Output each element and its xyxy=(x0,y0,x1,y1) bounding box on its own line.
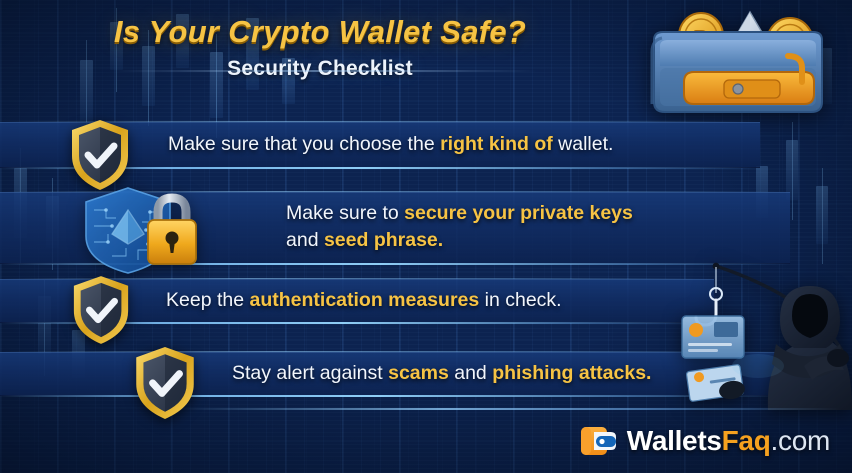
row1-text-part1: Make sure that you choose the xyxy=(168,133,440,155)
row3-text-part2: in check. xyxy=(479,289,561,311)
row1-text-part2: wallet. xyxy=(553,133,614,155)
row1-highlight: right kind of xyxy=(440,133,553,155)
logo-brand-accent: Faq xyxy=(722,425,771,456)
row2-text-part2: and xyxy=(286,229,324,251)
wallet-logo-icon xyxy=(580,425,618,457)
row3-highlight: authentication measures xyxy=(249,289,479,311)
row4-highlight2: phishing attacks. xyxy=(492,362,651,384)
page-subtitle: Security Checklist xyxy=(0,57,640,81)
shield-check-icon-3 xyxy=(70,274,132,346)
logo-brand-tld: .com xyxy=(771,425,830,456)
site-logo[interactable]: WalletsFaq.com xyxy=(580,425,830,457)
header-glow-line xyxy=(110,70,540,72)
logo-brand-main: Wallets xyxy=(627,425,722,456)
checklist-text-3: Keep the authentication measures in chec… xyxy=(166,288,562,313)
row2-line1: Make sure to secure your private keys xyxy=(286,200,633,227)
page-title: Is Your Crypto Wallet Safe? xyxy=(0,14,640,50)
phishing-hacker-illustration xyxy=(672,258,852,410)
row2-highlight1: secure your private keys xyxy=(404,202,633,224)
row4-highlight1: scams xyxy=(388,362,449,384)
site-logo-text: WalletsFaq.com xyxy=(627,425,830,457)
hooked-credit-card xyxy=(682,316,744,358)
row2-highlight2: seed phrase. xyxy=(324,229,443,251)
checklist-text-4: Stay alert against scams and phishing at… xyxy=(232,361,651,386)
row2-line2: and seed phrase. xyxy=(286,227,633,254)
footer-glow-line xyxy=(180,408,840,410)
row4-text-part1: Stay alert against xyxy=(232,362,388,384)
shield-lock-icon-2 xyxy=(82,186,232,274)
infographic-canvas: B B Is Your Crypto Wallet Safe? xyxy=(0,0,852,473)
crypto-wallet-illustration: B B xyxy=(638,2,848,122)
row4-text-part2: and xyxy=(449,362,492,384)
shield-check-icon-1 xyxy=(68,118,132,192)
row2-text-part1: Make sure to xyxy=(286,202,404,224)
checklist-text-2: Make sure to secure your private keys an… xyxy=(286,200,633,254)
checklist-text-1: Make sure that you choose the right kind… xyxy=(168,132,613,157)
row3-text-part1: Keep the xyxy=(166,289,249,311)
